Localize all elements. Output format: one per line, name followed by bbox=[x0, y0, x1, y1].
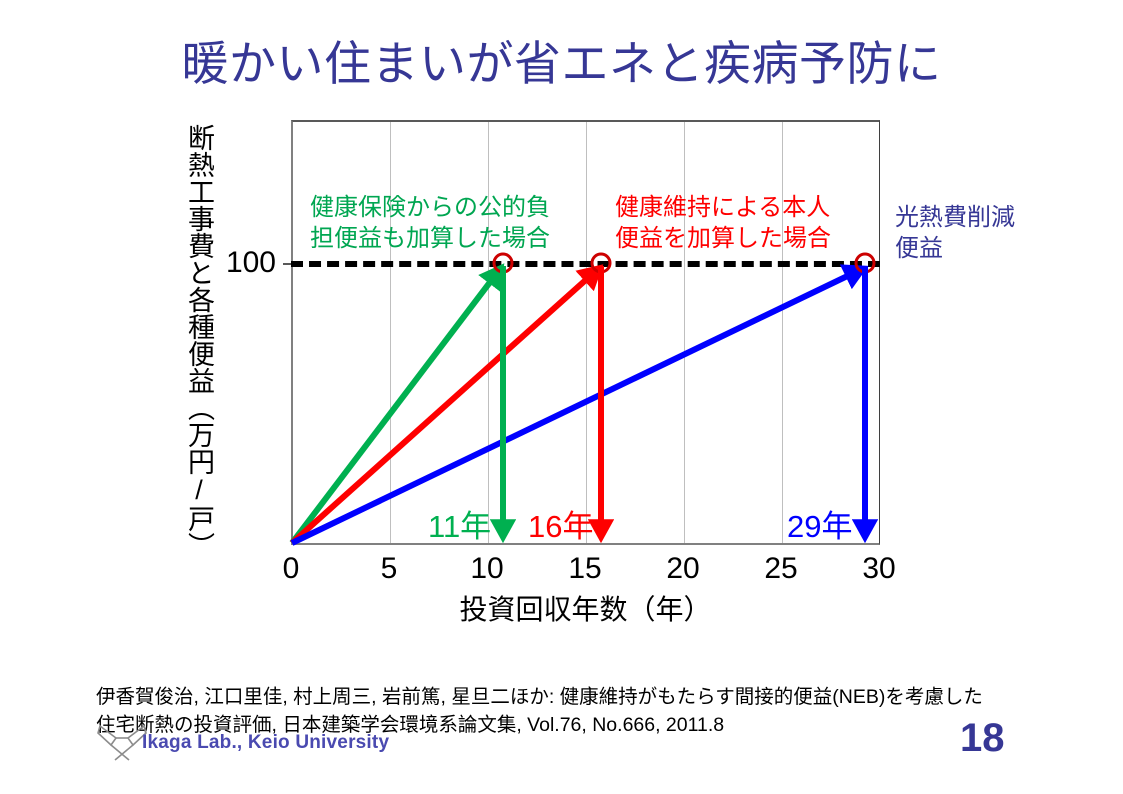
payback-label-red: 16年 bbox=[528, 501, 593, 546]
annotation-public-burden-benefit: 健康保険からの公的負 担便益も加算した場合 bbox=[310, 193, 580, 254]
payback-label-green: 11年 bbox=[428, 501, 491, 546]
x-axis-label: 投資回収年数（年） bbox=[291, 588, 880, 628]
gridline-20 bbox=[684, 122, 685, 543]
gridline-15 bbox=[586, 122, 587, 543]
slide-root: 暖かい住まいが省エネと疾病予防に 断熱工事費と各種便益（万円/戸） 100 0 … bbox=[0, 0, 1123, 794]
x-tick-label-10: 10 bbox=[452, 552, 522, 586]
x-tick-label-5: 5 bbox=[354, 552, 424, 586]
gridline-25 bbox=[782, 122, 783, 543]
reference-line-100 bbox=[291, 261, 880, 267]
annotation-personal-health-benefit: 健康維持による本人 便益を加算した場合 bbox=[615, 193, 865, 254]
x-tick-label-25: 25 bbox=[746, 552, 816, 586]
y-tick-label-100: 100 bbox=[200, 246, 276, 280]
plot-area bbox=[291, 120, 880, 545]
gridline-5 bbox=[390, 122, 391, 543]
y-axis-label: 断熱工事費と各種便益（万円/戸） bbox=[168, 124, 212, 559]
lab-name-label: Ikaga Lab., Keio University bbox=[142, 732, 389, 754]
page-number: 18 bbox=[960, 716, 1050, 761]
chart-figure: 断熱工事費と各種便益（万円/戸） 100 0 5 10 15 20 25 30 … bbox=[0, 0, 1123, 660]
x-tick-label-15: 15 bbox=[550, 552, 620, 586]
lab-logo-block: Ikaga Lab., Keio University bbox=[96, 718, 426, 768]
x-tick-label-20: 20 bbox=[648, 552, 718, 586]
x-tick-label-0: 0 bbox=[256, 552, 326, 586]
annotation-energy-cost-benefit: 光熱費削減 便益 bbox=[895, 203, 1095, 264]
keio-pen-cross-icon bbox=[96, 720, 148, 764]
gridline-10 bbox=[488, 122, 489, 543]
x-tick-label-30: 30 bbox=[844, 552, 914, 586]
payback-label-blue: 29年 bbox=[787, 501, 852, 546]
